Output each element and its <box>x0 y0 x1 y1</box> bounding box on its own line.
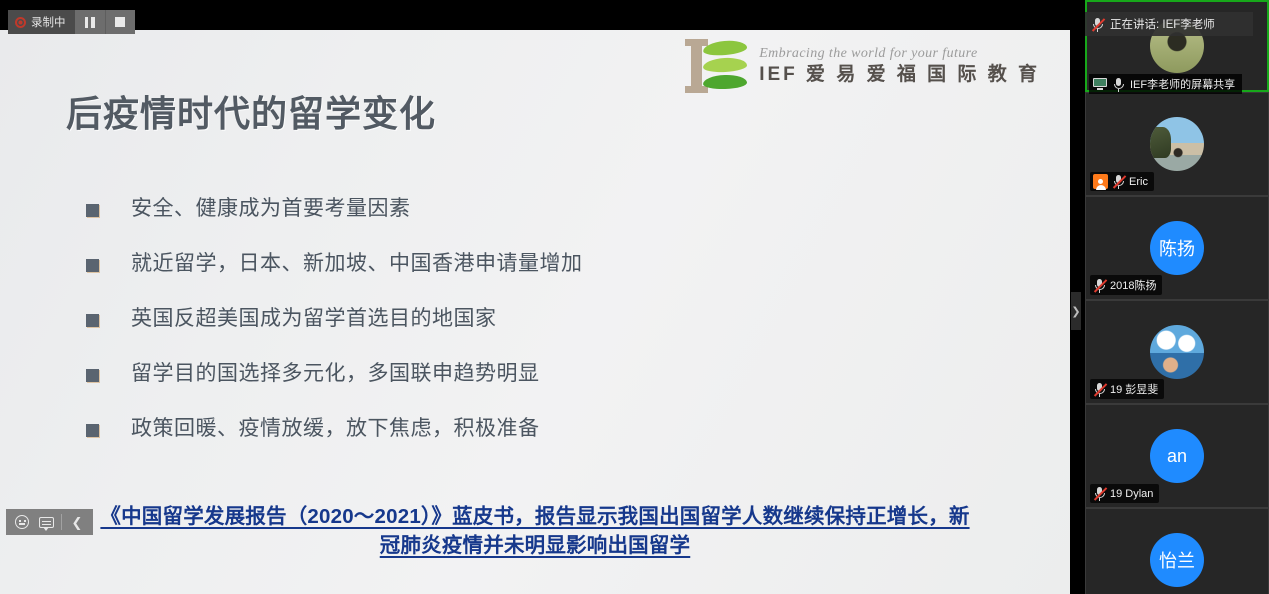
screen-share-badge: IEF李老师的屏幕共享 <box>1089 74 1242 94</box>
participant-name-badge: 19 彭昱斐 <box>1090 379 1164 399</box>
participant-name-badge: 19 Dylan <box>1090 484 1159 503</box>
slide-footnote: 《中国留学发展报告（2020～2021）》蓝皮书，报告显示我国出国留学人数继续保… <box>0 502 1070 560</box>
pause-recording-button[interactable] <box>75 10 105 34</box>
toolbar-divider <box>61 514 62 530</box>
pause-icon <box>85 17 95 28</box>
avatar <box>1150 117 1204 171</box>
active-speaker-banner: 正在讲话: IEF李老师 <box>1085 12 1253 36</box>
screen-share-text: IEF李老师的屏幕共享 <box>1130 76 1235 92</box>
bullet-text: 就近留学，日本、新加坡、中国香港申请量增加 <box>131 250 583 278</box>
list-item: 英国反超美国成为留学首选目的地国家 <box>86 305 986 360</box>
stop-recording-button[interactable] <box>105 10 135 34</box>
mic-muted-icon <box>1093 382 1106 397</box>
logo-name: IEF 爱 易 爱 福 国 际 教 育 <box>759 64 1040 86</box>
ief-logo: Embracing the world for your future IEF … <box>685 38 1040 94</box>
zoom-meeting-window: Embracing the world for your future IEF … <box>0 0 1269 594</box>
slide-footnote-text: 《中国留学发展报告（2020～2021）》蓝皮书，报告显示我国出国留学人数继续保… <box>100 505 969 557</box>
chevron-left-icon: ❮ <box>72 516 83 529</box>
slide-title: 后疫情时代的留学变化 <box>66 85 436 137</box>
participant-name: 19 Dylan <box>1110 488 1153 500</box>
avatar: an <box>1150 429 1204 483</box>
video-tile-chenyang[interactable]: 陈扬 2018陈扬 <box>1085 196 1269 300</box>
mic-muted-icon <box>1091 17 1104 32</box>
participant-name: Eric <box>1129 176 1148 188</box>
video-tile-yilan[interactable]: 怡兰 ⌄ <box>1085 508 1269 594</box>
bullet-list: 安全、健康成为首要考量因素 就近留学，日本、新加坡、中国香港申请量增加 英国反超… <box>86 195 986 470</box>
participant-name: 2018陈扬 <box>1110 277 1156 293</box>
chat-button[interactable] <box>34 509 58 535</box>
emoji-reaction-icon <box>15 515 29 529</box>
collapse-toolbar-button[interactable]: ❮ <box>65 509 89 535</box>
bullet-text: 英国反超美国成为留学首选目的地国家 <box>131 305 497 333</box>
host-badge-icon <box>1093 174 1108 189</box>
avatar <box>1150 325 1204 379</box>
bullet-text: 留学目的国选择多元化，多国联申趋势明显 <box>131 360 540 388</box>
logo-tagline: Embracing the world for your future <box>759 46 1040 62</box>
stop-icon <box>115 17 125 27</box>
bullet-square-icon <box>86 424 99 437</box>
presentation-slide: Embracing the world for your future IEF … <box>0 30 1070 594</box>
mic-muted-icon <box>1093 278 1106 293</box>
participant-name-badge: Eric <box>1090 172 1154 191</box>
video-tile-pengyufei[interactable]: 19 彭昱斐 <box>1085 300 1269 404</box>
bullet-square-icon <box>86 204 99 217</box>
mic-unmuted-icon <box>1112 77 1125 92</box>
bullet-text: 安全、健康成为首要考量因素 <box>131 195 411 223</box>
avatar: 陈扬 <box>1150 221 1204 275</box>
recording-status: 录制中 <box>8 10 75 34</box>
list-item: 就近留学，日本、新加坡、中国香港申请量增加 <box>86 250 986 305</box>
collapse-video-panel-button[interactable]: ❯ <box>1071 292 1081 330</box>
participant-name-badge: 2018陈扬 <box>1090 275 1162 295</box>
ief-leaf-logo-icon <box>685 38 751 94</box>
list-item: 政策回暖、疫情放缓，放下焦虑，积极准备 <box>86 415 986 470</box>
participant-name: 19 彭昱斐 <box>1110 381 1158 397</box>
bullet-square-icon <box>86 369 99 382</box>
emoji-reaction-button[interactable] <box>10 509 34 535</box>
bullet-square-icon <box>86 314 99 327</box>
video-tile-eric[interactable]: Eric <box>1085 92 1269 196</box>
chat-bubble-icon <box>39 517 54 528</box>
shared-screen-area: Embracing the world for your future IEF … <box>0 0 1081 594</box>
screen-share-icon <box>1093 78 1107 90</box>
bullet-text: 政策回暖、疫情放缓，放下焦虑，积极准备 <box>131 415 540 443</box>
record-dot-icon <box>15 17 26 28</box>
recording-controls: 录制中 <box>8 10 135 34</box>
recording-label: 录制中 <box>31 14 66 30</box>
floating-mini-toolbar: ❮ <box>6 509 93 535</box>
list-item: 安全、健康成为首要考量因素 <box>86 195 986 250</box>
video-tile-dylan[interactable]: an 19 Dylan <box>1085 404 1269 508</box>
avatar: 怡兰 <box>1150 533 1204 587</box>
list-item: 留学目的国选择多元化，多国联申趋势明显 <box>86 360 986 415</box>
bullet-square-icon <box>86 259 99 272</box>
mic-muted-icon <box>1093 486 1106 501</box>
chevron-right-icon: ❯ <box>1071 305 1080 318</box>
active-speaker-text: 正在讲话: IEF李老师 <box>1110 16 1215 32</box>
mic-muted-icon <box>1112 174 1125 189</box>
